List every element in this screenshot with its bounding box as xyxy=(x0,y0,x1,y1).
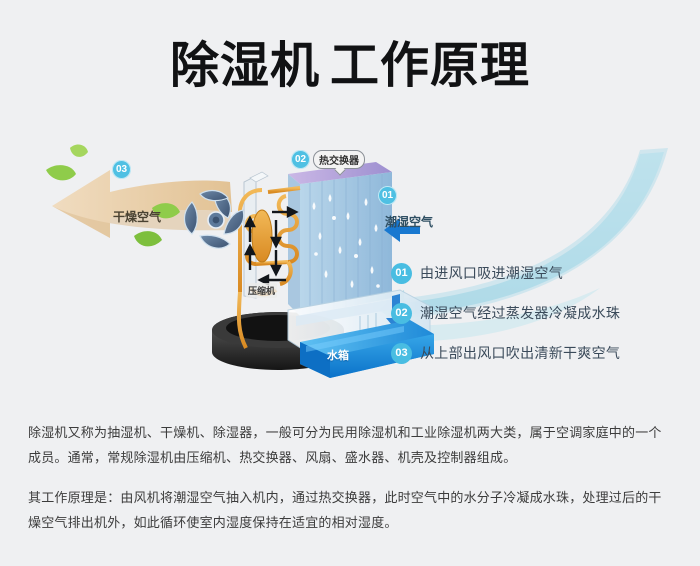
legend-text-03: 从上部出风口吹出清新干爽空气 xyxy=(420,343,620,363)
humid-air-label: 潮湿空气 xyxy=(385,213,433,230)
legend-text-01: 由进风口吸进潮湿空气 xyxy=(420,263,563,283)
heat-exchanger-callout: 热交换器 xyxy=(313,150,365,169)
title-part-2: 工作原理 xyxy=(330,39,530,93)
legend-badge-03: 03 xyxy=(391,343,412,364)
legend-badge-01: 01 xyxy=(391,263,412,284)
water-tank-label: 水箱 xyxy=(327,347,349,363)
legend-list: 01 由进风口吸进潮湿空气 02 潮湿空气经过蒸发器冷凝成水珠 03 从上部出风… xyxy=(391,253,691,373)
diagram-marker-03: 03 xyxy=(112,160,131,179)
legend-text-02: 潮湿空气经过蒸发器冷凝成水珠 xyxy=(420,303,620,323)
page-title: 除湿机工作原理 xyxy=(0,38,700,94)
evaporator-block xyxy=(288,162,392,316)
legend-badge-02: 02 xyxy=(391,303,412,324)
list-item: 02 潮湿空气经过蒸发器冷凝成水珠 xyxy=(391,293,691,333)
infographic-page: 除湿机工作原理 xyxy=(0,0,700,566)
dry-air-label: 干燥空气 xyxy=(113,208,161,225)
list-item: 01 由进风口吸进潮湿空气 xyxy=(391,253,691,293)
description-paragraph-1: 除湿机又称为抽湿机、干燥机、除湿器，一般可分为民用除湿机和工业除湿机两大类，属于… xyxy=(28,420,672,470)
dry-air-arrow xyxy=(52,170,232,238)
description-block: 除湿机又称为抽湿机、干燥机、除湿器，一般可分为民用除湿机和工业除湿机两大类，属于… xyxy=(28,420,672,535)
compressor-label: 压缩机 xyxy=(246,283,277,298)
diagram-marker-02: 02 xyxy=(291,150,310,169)
title-part-1: 除湿机 xyxy=(170,39,320,93)
list-item: 03 从上部出风口吹出清新干爽空气 xyxy=(391,333,691,373)
diagram-marker-01: 01 xyxy=(378,186,397,205)
description-paragraph-2: 其工作原理是：由风机将潮湿空气抽入机内，通过热交换器，此时空气中的水分子冷凝成水… xyxy=(28,485,672,535)
